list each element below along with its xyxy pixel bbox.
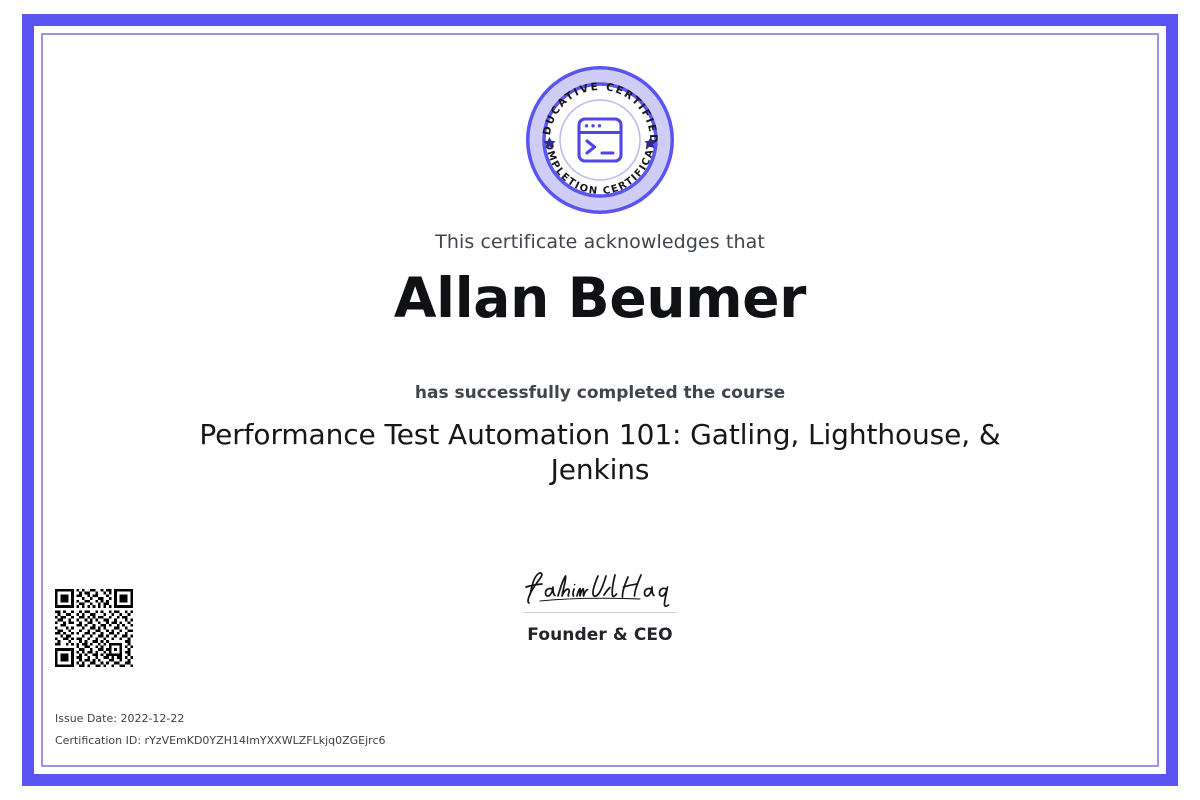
- issue-date-row: Issue Date: 2022-12-22: [55, 711, 386, 727]
- qr-code[interactable]: [55, 589, 133, 667]
- issue-date-value: 2022-12-22: [120, 712, 184, 725]
- signature-block: Fahim Ul Haq: [43, 565, 1157, 645]
- certification-id-label: Certification ID:: [55, 734, 141, 747]
- acknowledgement-text: This certificate acknowledges that: [43, 231, 1157, 253]
- recipient-name: Allan Beumer: [43, 265, 1157, 331]
- certificate-content: EDUCATIVE CERTIFIED COMPLETION CERTIFICA…: [43, 35, 1157, 765]
- issue-date-label: Issue Date:: [55, 712, 117, 725]
- certification-id-value: rYzVEmKD0YZH14ImYXXWLZFLkjq0ZGEjrc6: [145, 734, 386, 747]
- completion-text: has successfully completed the course: [43, 383, 1157, 403]
- certification-id-row: Certification ID: rYzVEmKD0YZH14ImYXXWLZ…: [55, 733, 386, 749]
- certificate-badge-container: EDUCATIVE CERTIFIED COMPLETION CERTIFICA…: [43, 64, 1157, 216]
- signature-divider: [524, 612, 676, 613]
- course-title: Performance Test Automation 101: Gatling…: [163, 418, 1037, 487]
- signature-image: Fahim Ul Haq: [520, 565, 680, 609]
- certificate-page: EDUCATIVE CERTIFIED COMPLETION CERTIFICA…: [0, 0, 1200, 800]
- signatory-title: Founder & CEO: [527, 625, 672, 645]
- certificate-meta: Issue Date: 2022-12-22 Certification ID:…: [55, 711, 386, 749]
- certificate-seal-badge: EDUCATIVE CERTIFIED COMPLETION CERTIFICA…: [524, 64, 676, 216]
